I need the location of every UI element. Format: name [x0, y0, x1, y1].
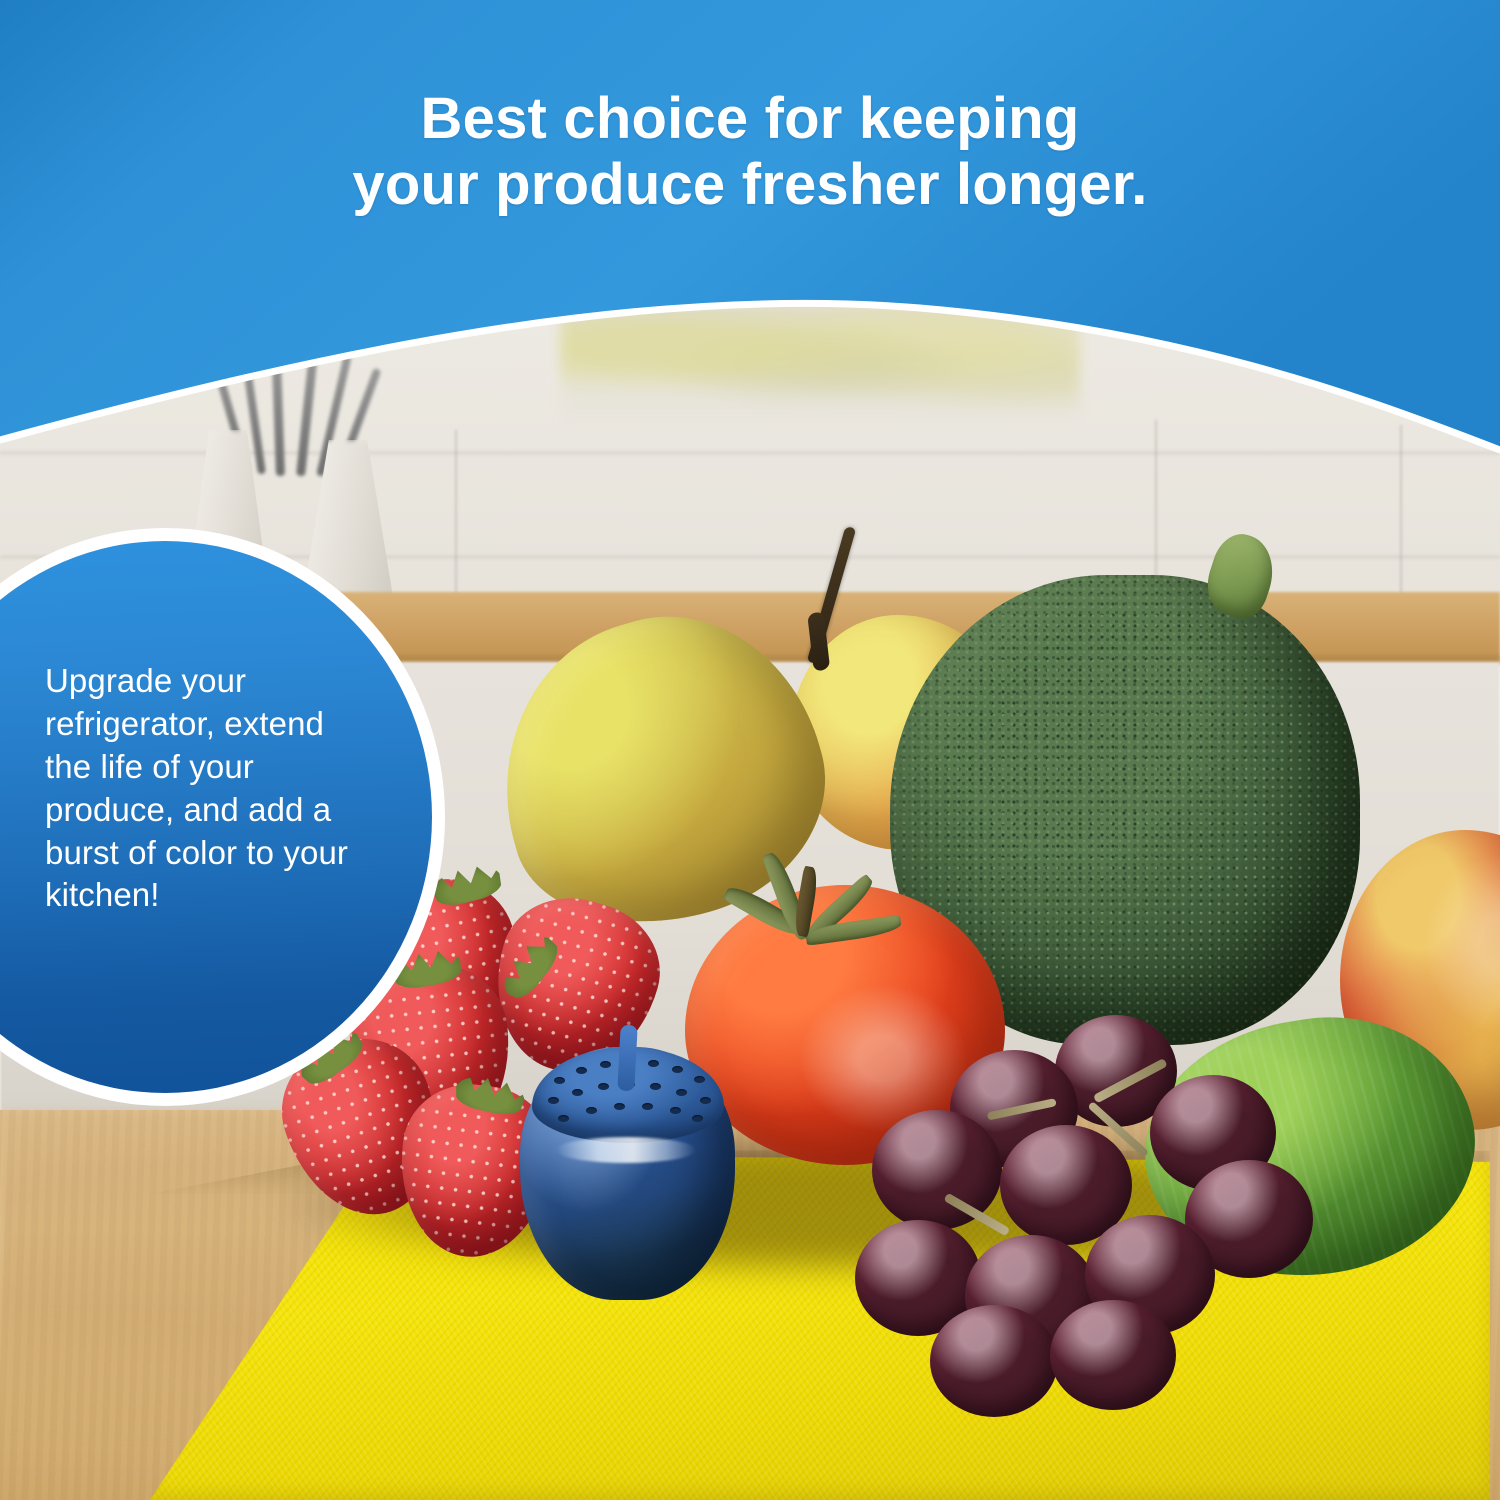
- device-highlight: [556, 1137, 696, 1163]
- grape: [930, 1305, 1058, 1417]
- grape: [1050, 1300, 1176, 1410]
- badge-text: Upgrade your refrigerator, extend the li…: [45, 660, 375, 917]
- device-stem: [617, 1025, 637, 1092]
- blue-apple-deodorizer: [520, 1025, 735, 1300]
- promo-image: Best choice for keeping your produce fre…: [0, 0, 1500, 1500]
- promo-badge: Upgrade your refrigerator, extend the li…: [0, 528, 445, 1106]
